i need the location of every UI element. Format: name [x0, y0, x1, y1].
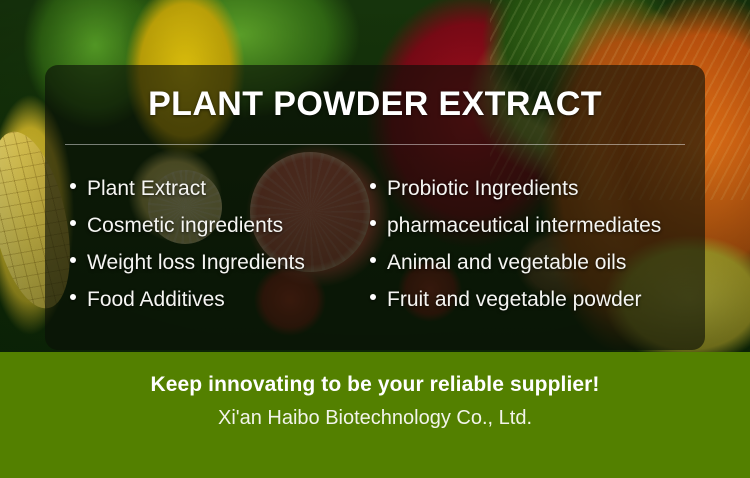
bullet-icon — [70, 183, 76, 189]
bullet-icon — [70, 294, 76, 300]
list-item-label: pharmaceutical intermediates — [387, 207, 661, 244]
list-item-label: Probiotic Ingredients — [387, 170, 578, 207]
list-item-label: Fruit and vegetable powder — [387, 281, 642, 318]
product-list-left: Plant Extract Cosmetic ingredients Weigh… — [70, 170, 370, 318]
list-item: Weight loss Ingredients — [70, 244, 370, 281]
footer-band: Keep innovating to be your reliable supp… — [0, 352, 750, 478]
footer-tagline: Keep innovating to be your reliable supp… — [0, 372, 750, 398]
bullet-icon — [370, 183, 376, 189]
list-item-label: Cosmetic ingredients — [87, 207, 283, 244]
list-item: Food Additives — [70, 281, 370, 318]
bullet-icon — [370, 220, 376, 226]
list-item-label: Plant Extract — [87, 170, 206, 207]
bullet-icon — [370, 294, 376, 300]
list-item: Fruit and vegetable powder — [370, 281, 700, 318]
product-list-columns: Plant Extract Cosmetic ingredients Weigh… — [45, 170, 705, 318]
list-item: Plant Extract — [70, 170, 370, 207]
list-item-label: Animal and vegetable oils — [387, 244, 626, 281]
list-item: pharmaceutical intermediates — [370, 207, 700, 244]
content-panel: PLANT POWDER EXTRACT Plant Extract Cosme… — [45, 65, 705, 350]
list-item: Probiotic Ingredients — [370, 170, 700, 207]
product-banner: PLANT POWDER EXTRACT Plant Extract Cosme… — [0, 0, 750, 478]
title-divider — [65, 144, 685, 145]
list-item-label: Weight loss Ingredients — [87, 244, 305, 281]
product-list-right: Probiotic Ingredients pharmaceutical int… — [370, 170, 700, 318]
list-item-label: Food Additives — [87, 281, 225, 318]
page-title: PLANT POWDER EXTRACT — [45, 87, 705, 121]
list-item: Animal and vegetable oils — [370, 244, 700, 281]
list-item: Cosmetic ingredients — [70, 207, 370, 244]
bullet-icon — [70, 257, 76, 263]
bullet-icon — [370, 257, 376, 263]
company-name: Xi'an Haibo Biotechnology Co., Ltd. — [0, 405, 750, 431]
bullet-icon — [70, 220, 76, 226]
